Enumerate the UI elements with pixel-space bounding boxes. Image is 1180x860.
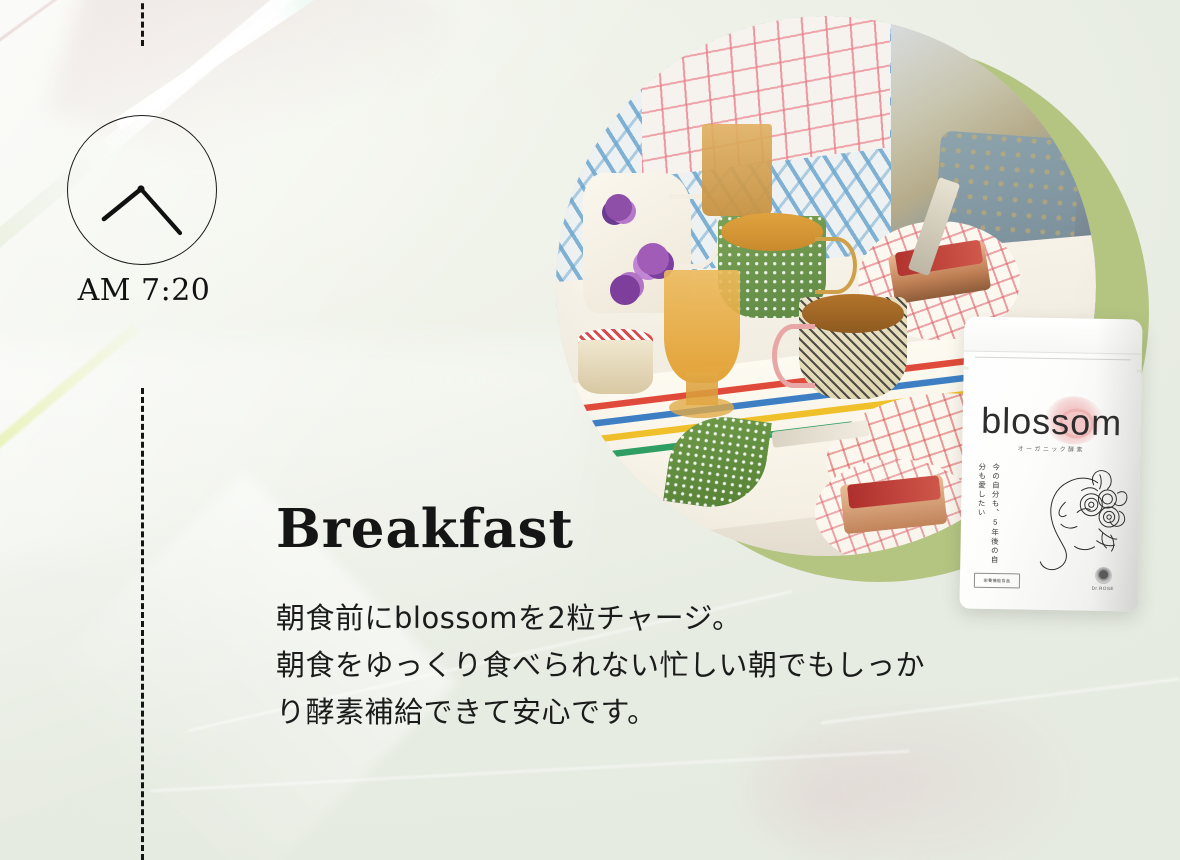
product-vertical-copy: 今の自分も、5年後の自分も愛したい — [973, 463, 1003, 571]
background-pink-smudge-bottom-center — [708, 740, 944, 860]
pouch-notch-left — [963, 366, 969, 369]
product-badge: 栄養機能食品 — [974, 573, 1020, 589]
dashed-guide-top — [141, 0, 144, 46]
body-copy-line-3: り酵素補給できて安心です。 — [276, 689, 1116, 736]
time-label: AM 7:20 — [64, 273, 224, 308]
body-copy: 朝食前にblossomを2粒チャージ。 朝食をゆっくり食べられない忙しい朝でもし… — [276, 595, 1116, 736]
body-copy-line-2: 朝食をゆっくり食べられない忙しい朝でもしっか — [276, 642, 1116, 689]
page-title: Breakfast — [276, 503, 574, 556]
clock-hands-icon — [67, 115, 215, 263]
product-pouch[interactable]: blossom オーガニック酵素 今の自分も、5年後の自分も愛したい — [959, 316, 1142, 611]
time-badge: AM 7:20 — [67, 115, 217, 315]
body-copy-line-1: 朝食前にblossomを2粒チャージ。 — [276, 595, 1116, 642]
promo-slide: AM 7:20 blossom オーガニック酵素 今の自分も、5年後の自分も愛し… — [0, 0, 1180, 860]
pouch-shading — [1091, 319, 1142, 612]
dashed-guide-main — [141, 388, 144, 860]
